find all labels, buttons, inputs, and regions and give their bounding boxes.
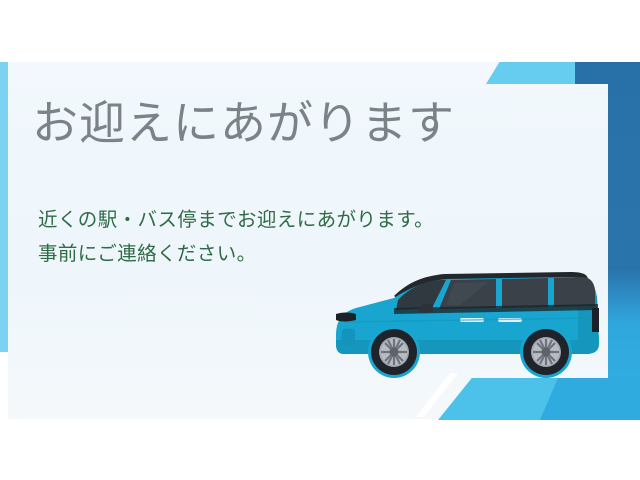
body-text-line-2: 事前にご連絡ください。 bbox=[38, 237, 434, 271]
minivan-car-illustration bbox=[320, 256, 620, 391]
top-right-light-stripe bbox=[486, 62, 582, 84]
body-text: 近くの駅・バス停までお迎えにあがります。 事前にご連絡ください。 bbox=[38, 203, 434, 271]
headline: お迎えにあがります bbox=[32, 96, 455, 150]
pickup-service-banner: お迎えにあがります 近くの駅・バス停までお迎えにあがります。 事前にご連絡くださ… bbox=[0, 0, 640, 480]
body-text-line-1: 近くの駅・バス停までお迎えにあがります。 bbox=[38, 203, 434, 237]
